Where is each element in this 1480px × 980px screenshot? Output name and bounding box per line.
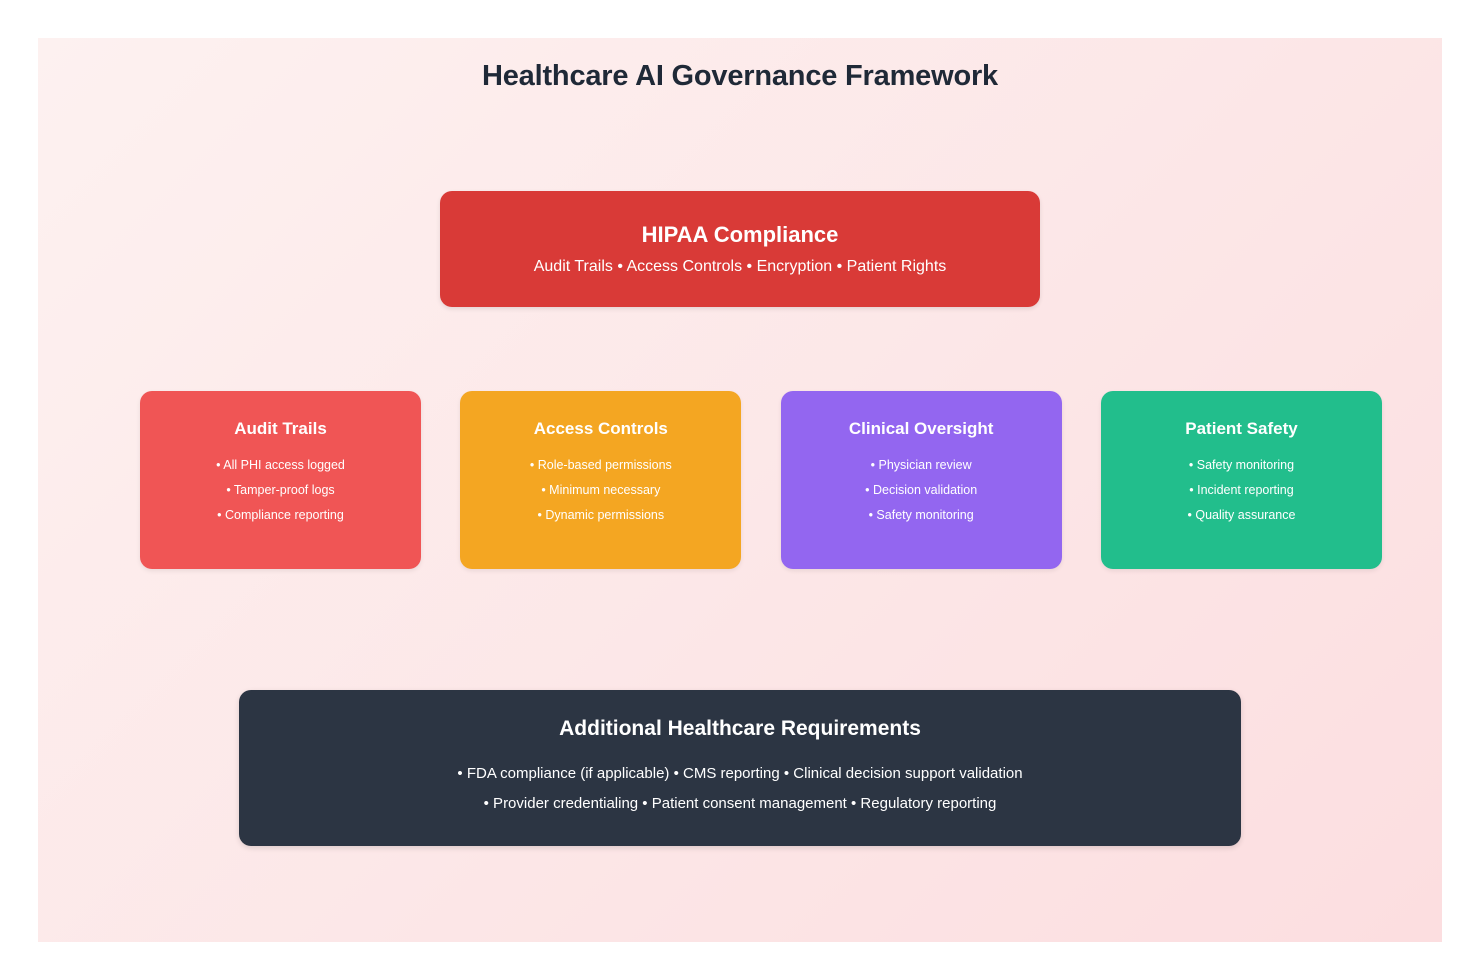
pillar-card-access-controls[interactable]: Access Controls • Role-based permissions… xyxy=(460,391,741,569)
additional-requirements-panel[interactable]: Additional Healthcare Requirements • FDA… xyxy=(239,690,1241,846)
pillar-bullet: • Minimum necessary xyxy=(541,478,660,503)
hipaa-compliance-subtitle: Audit Trails • Access Controls • Encrypt… xyxy=(534,258,947,276)
pillar-bullets-audit-trails: • All PHI access logged • Tamper-proof l… xyxy=(216,453,345,528)
pillar-bullet: • Role-based permissions xyxy=(530,453,672,478)
pillar-title-access-controls: Access Controls xyxy=(534,419,668,439)
page-title: Healthcare AI Governance Framework xyxy=(38,60,1442,93)
additional-requirements-line: • FDA compliance (if applicable) • CMS r… xyxy=(457,759,1022,789)
pillar-card-patient-safety[interactable]: Patient Safety • Safety monitoring • Inc… xyxy=(1101,391,1382,569)
additional-requirements-title: Additional Healthcare Requirements xyxy=(559,717,921,741)
pillar-bullet: • Tamper-proof logs xyxy=(226,478,334,503)
pillar-bullets-access-controls: • Role-based permissions • Minimum neces… xyxy=(530,453,672,528)
pillar-bullet: • Safety monitoring xyxy=(1189,453,1294,478)
hipaa-compliance-banner[interactable]: HIPAA Compliance Audit Trails • Access C… xyxy=(440,191,1040,307)
pillar-title-audit-trails: Audit Trails xyxy=(234,419,327,439)
pillar-title-patient-safety: Patient Safety xyxy=(1185,419,1297,439)
pillar-bullet: • Decision validation xyxy=(865,478,977,503)
pillar-bullet: • Dynamic permissions xyxy=(538,503,665,528)
pillar-card-audit-trails[interactable]: Audit Trails • All PHI access logged • T… xyxy=(140,391,421,569)
framework-canvas: Healthcare AI Governance Framework HIPAA… xyxy=(38,38,1442,942)
pillar-bullets-patient-safety: • Safety monitoring • Incident reporting… xyxy=(1188,453,1296,528)
pillar-title-clinical-oversight: Clinical Oversight xyxy=(849,419,994,439)
hipaa-compliance-title: HIPAA Compliance xyxy=(642,222,839,248)
pillar-bullet: • Physician review xyxy=(871,453,972,478)
pillar-bullets-clinical-oversight: • Physician review • Decision validation… xyxy=(865,453,977,528)
pillar-row: Audit Trails • All PHI access logged • T… xyxy=(140,391,1382,569)
pillar-card-clinical-oversight[interactable]: Clinical Oversight • Physician review • … xyxy=(781,391,1062,569)
pillar-bullet: • Quality assurance xyxy=(1188,503,1296,528)
additional-requirements-line: • Provider credentialing • Patient conse… xyxy=(484,789,997,819)
pillar-bullet: • Incident reporting xyxy=(1189,478,1293,503)
pillar-bullet: • Safety monitoring xyxy=(869,503,974,528)
pillar-bullet: • Compliance reporting xyxy=(217,503,344,528)
pillar-bullet: • All PHI access logged xyxy=(216,453,345,478)
